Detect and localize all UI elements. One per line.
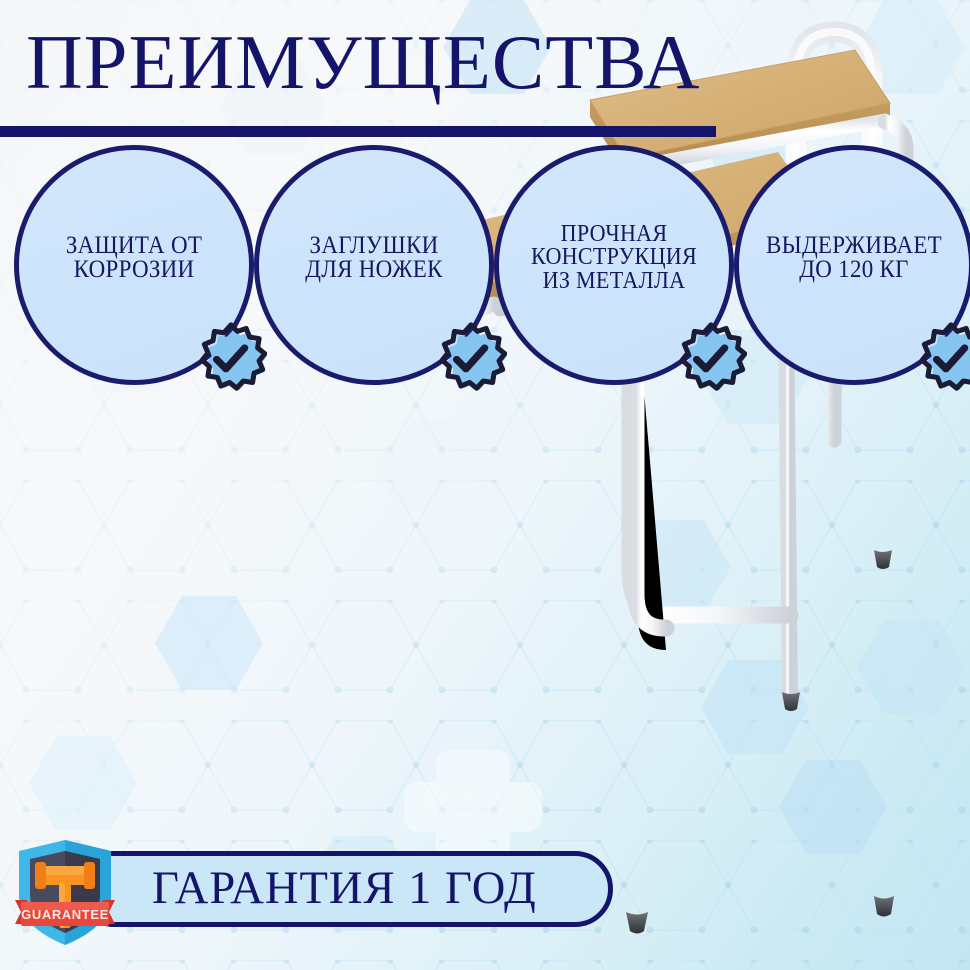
infographic-canvas: ТОПЗДРАВ ПРЕИМУЩЕСТВА ЗАЩИТА ОТ КОРРОЗИИ… bbox=[0, 0, 970, 970]
title-underline bbox=[0, 126, 716, 137]
guarantee-banner-text: ГАРАНТИЯ 1 ГОД bbox=[152, 861, 537, 915]
feature-label: ЗАГЛУШКИ ДЛЯ НОЖЕК bbox=[268, 234, 480, 283]
feature-label: ВЫДЕРЖИВАЕТ ДО 120 КГ bbox=[748, 234, 960, 283]
check-badge-icon bbox=[675, 322, 747, 394]
feature-circle-row: ЗАЩИТА ОТ КОРРОЗИИ ЗАГЛУШКИ ДЛЯ НОЖЕК ПР… bbox=[0, 140, 970, 390]
page-title-block: ПРЕИМУЩЕСТВА bbox=[26, 26, 746, 100]
feature-label: ПРОЧНАЯ КОНСТРУКЦИЯ ИЗ МЕТАЛЛА bbox=[508, 223, 720, 294]
guarantee-ribbon-text: GUARANTEE bbox=[21, 907, 109, 922]
guarantee-shield-gavel-icon: GUARANTEE bbox=[13, 838, 117, 948]
feature-circle-corrosion-protection[interactable]: ЗАЩИТА ОТ КОРРОЗИИ bbox=[14, 145, 254, 385]
check-badge-icon bbox=[195, 322, 267, 394]
guarantee-banner[interactable]: ГАРАНТИЯ 1 ГОД bbox=[76, 851, 613, 927]
feature-label: ЗАЩИТА ОТ КОРРОЗИИ bbox=[28, 234, 240, 283]
check-badge-icon bbox=[435, 322, 507, 394]
feature-circle-leg-caps[interactable]: ЗАГЛУШКИ ДЛЯ НОЖЕК bbox=[254, 145, 494, 385]
check-badge-icon bbox=[915, 322, 970, 394]
feature-circle-metal-construction[interactable]: ПРОЧНАЯ КОНСТРУКЦИЯ ИЗ МЕТАЛЛА bbox=[494, 145, 734, 385]
page-title: ПРЕИМУЩЕСТВА bbox=[26, 26, 760, 100]
feature-circle-load-capacity[interactable]: ВЫДЕРЖИВАЕТ ДО 120 КГ bbox=[734, 145, 970, 385]
